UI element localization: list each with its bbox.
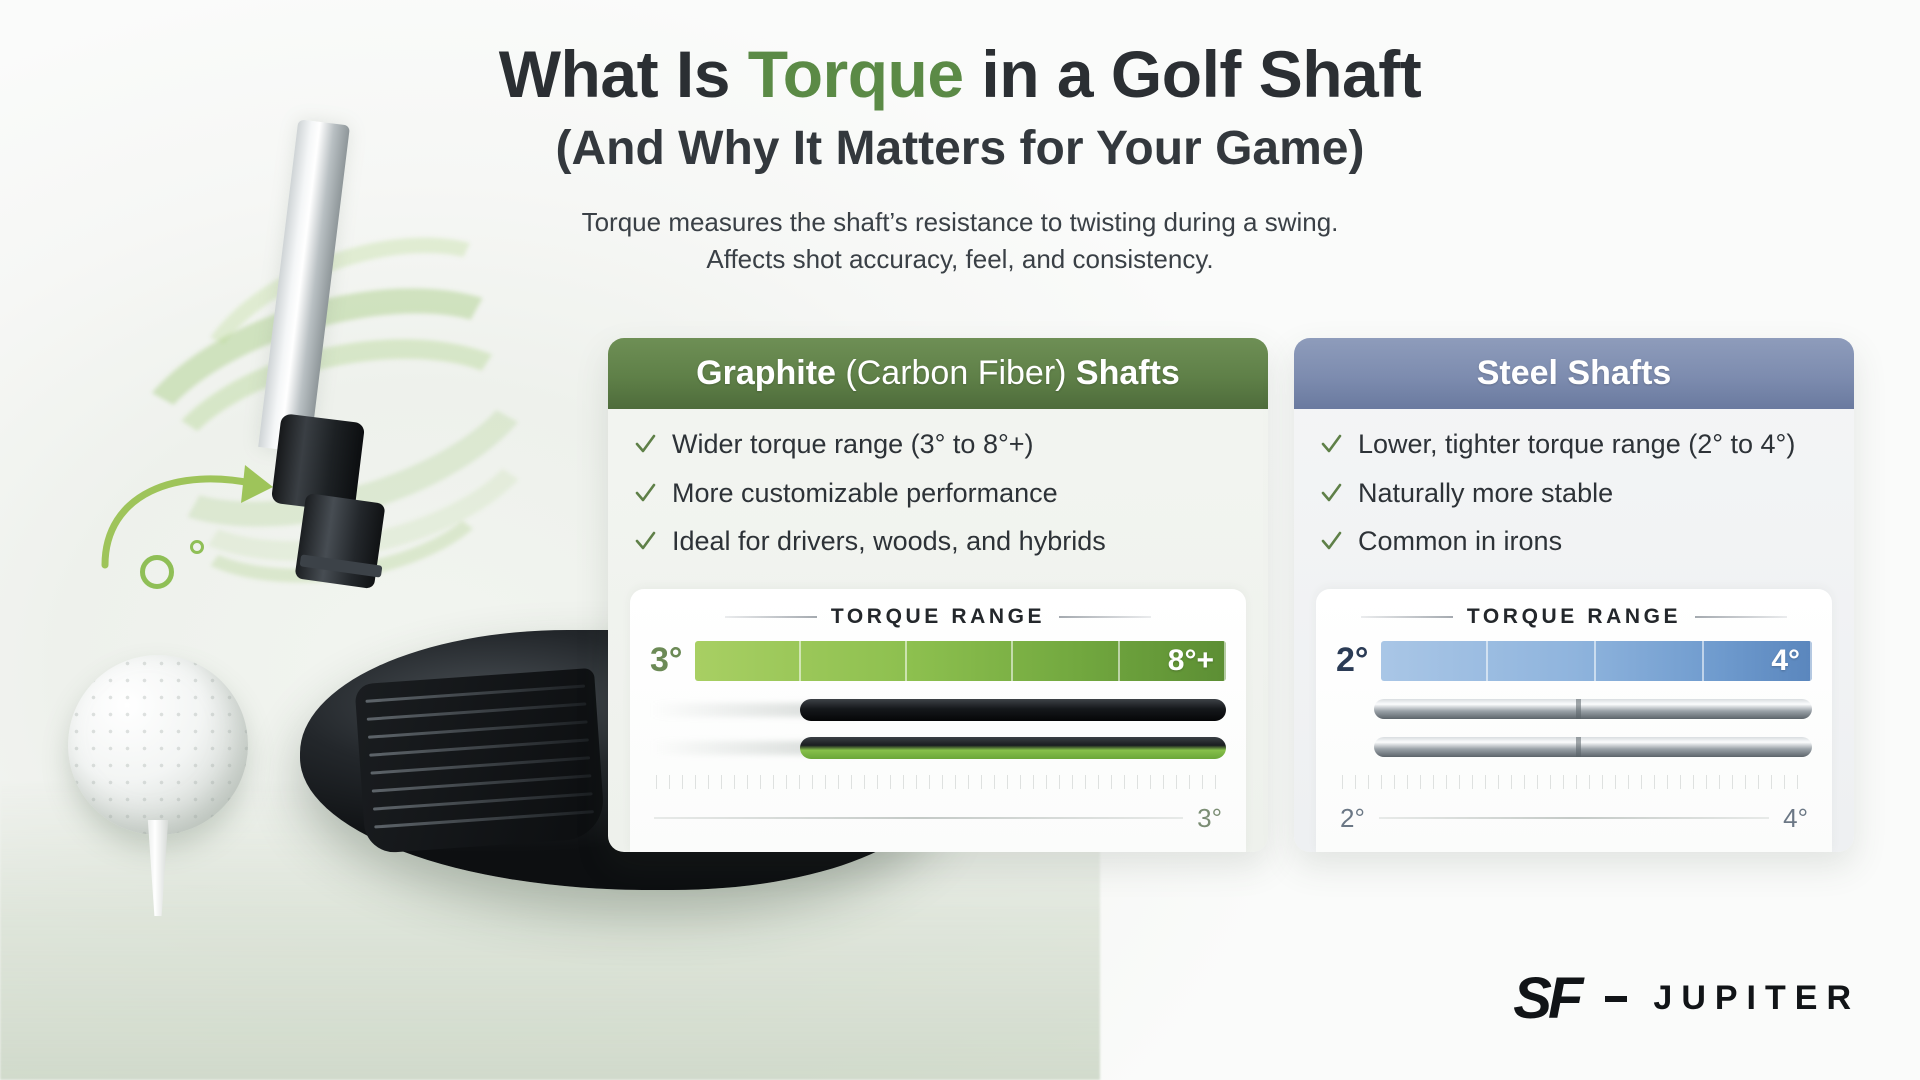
rule-left bbox=[1361, 616, 1453, 618]
card-graphite-bullets: Wider torque range (3° to 8°+) More cust… bbox=[608, 409, 1268, 579]
card-graphite-title: Graphite (Carbon Fiber) Shafts bbox=[634, 354, 1242, 393]
title-highlight: Torque bbox=[748, 37, 964, 111]
graphite-shaft-upper bbox=[800, 699, 1226, 721]
golf-ball bbox=[68, 655, 248, 835]
card-steel-bullets: Lower, tighter torque range (2° to 4°) N… bbox=[1294, 409, 1854, 579]
card-graphite-title-bold: Graphite bbox=[696, 354, 845, 392]
title-post: in a Golf Shaft bbox=[964, 37, 1422, 111]
foot-min-value: 2° bbox=[1340, 803, 1365, 834]
card-graphite-header: Graphite (Carbon Fiber) Shafts bbox=[608, 338, 1268, 409]
torque-range-header: TORQUE RANGE bbox=[1336, 605, 1812, 629]
measurement-ruler bbox=[656, 775, 1220, 789]
list-item: Lower, tighter torque range (2° to 4°) bbox=[1320, 427, 1824, 462]
list-item-label: Lower, tighter torque range (2° to 4°) bbox=[1358, 427, 1795, 462]
foot-max-value: 4° bbox=[1783, 803, 1808, 834]
golf-ball-dimples bbox=[68, 655, 248, 835]
graphite-shaft-lower bbox=[800, 737, 1226, 759]
list-item: More customizable performance bbox=[634, 476, 1238, 511]
shaft-row bbox=[1336, 737, 1812, 763]
logo-mark: SF bbox=[1513, 965, 1579, 1032]
steel-foot-scale: 2° 4° bbox=[1336, 803, 1812, 838]
torque-max-value: 8°+ bbox=[1168, 644, 1214, 678]
list-item: Common in irons bbox=[1320, 524, 1824, 559]
measurement-ruler bbox=[1342, 775, 1806, 789]
torque-max-value: 4° bbox=[1771, 644, 1800, 678]
rotation-arrow-icon bbox=[95, 455, 285, 585]
foot-line bbox=[1379, 817, 1769, 819]
comparison-cards: Graphite (Carbon Fiber) Shafts Wider tor… bbox=[608, 338, 1858, 852]
check-icon bbox=[634, 528, 656, 554]
list-item-label: Naturally more stable bbox=[1358, 476, 1613, 511]
rule-right bbox=[1695, 616, 1787, 618]
list-item-label: Ideal for drivers, woods, and hybrids bbox=[672, 524, 1106, 559]
club-face bbox=[354, 668, 605, 854]
torque-range-header: TORQUE RANGE bbox=[650, 605, 1226, 629]
shaft-row bbox=[650, 699, 1226, 725]
lede-paragraph: Torque measures the shaft’s resistance t… bbox=[0, 204, 1920, 279]
list-item-label: More customizable performance bbox=[672, 476, 1058, 511]
graphite-foot-scale: 3° bbox=[650, 803, 1226, 838]
card-steel-header: Steel Shafts bbox=[1294, 338, 1854, 409]
list-item-label: Common in irons bbox=[1358, 524, 1562, 559]
logo-divider bbox=[1605, 996, 1627, 1002]
check-icon bbox=[1320, 431, 1342, 457]
card-graphite-title-tail: Shafts bbox=[1076, 354, 1180, 392]
torque-min-value: 2° bbox=[1336, 641, 1369, 680]
list-item: Naturally more stable bbox=[1320, 476, 1824, 511]
steel-shaft-upper bbox=[1374, 699, 1812, 719]
torque-dot-small bbox=[190, 540, 204, 554]
card-graphite: Graphite (Carbon Fiber) Shafts Wider tor… bbox=[608, 338, 1268, 852]
torque-scale-graphite: 3° 8°+ bbox=[650, 641, 1226, 681]
page-subtitle: (And Why It Matters for Your Game) bbox=[0, 120, 1920, 178]
torque-dot-large bbox=[140, 555, 174, 589]
torque-range-label: TORQUE RANGE bbox=[1467, 605, 1681, 629]
check-icon bbox=[1320, 480, 1342, 506]
steel-shaft-lower bbox=[1374, 737, 1812, 757]
list-item: Wider torque range (3° to 8°+) bbox=[634, 427, 1238, 462]
shaft-row bbox=[1336, 699, 1812, 725]
check-icon bbox=[634, 480, 656, 506]
card-steel: Steel Shafts Lower, tighter torque range… bbox=[1294, 338, 1854, 852]
graphite-shaft-diagram bbox=[650, 699, 1226, 789]
steel-shaft-diagram bbox=[1336, 699, 1812, 789]
torque-min-value: 3° bbox=[650, 641, 683, 680]
card-steel-title: Steel Shafts bbox=[1320, 354, 1828, 393]
title-pre: What Is bbox=[499, 37, 748, 111]
brand-logo: SF JUPITER bbox=[1513, 965, 1860, 1032]
card-steel-torque-panel: TORQUE RANGE 2° 4° bbox=[1316, 589, 1832, 852]
foot-min-value: 3° bbox=[1197, 803, 1222, 834]
rule-left bbox=[725, 616, 817, 618]
torque-gradient-bar: 8°+ bbox=[695, 641, 1226, 681]
check-icon bbox=[634, 431, 656, 457]
header-block: What Is Torque in a Golf Shaft (And Why … bbox=[0, 38, 1920, 279]
torque-gradient-bar: 4° bbox=[1381, 641, 1812, 681]
foot-line bbox=[654, 817, 1183, 819]
infographic-canvas: What Is Torque in a Golf Shaft (And Why … bbox=[0, 0, 1920, 1080]
shaft-row bbox=[650, 737, 1226, 763]
torque-scale-steel: 2° 4° bbox=[1336, 641, 1812, 681]
check-icon bbox=[1320, 528, 1342, 554]
logo-wordmark: JUPITER bbox=[1653, 979, 1860, 1018]
list-item: Ideal for drivers, woods, and hybrids bbox=[634, 524, 1238, 559]
card-graphite-torque-panel: TORQUE RANGE 3° 8°+ bbox=[630, 589, 1246, 852]
rule-right bbox=[1059, 616, 1151, 618]
page-title: What Is Torque in a Golf Shaft bbox=[0, 38, 1920, 112]
lede-line-1: Torque measures the shaft’s resistance t… bbox=[0, 204, 1920, 242]
card-graphite-title-light: (Carbon Fiber) bbox=[845, 354, 1076, 392]
torque-range-label: TORQUE RANGE bbox=[831, 605, 1045, 629]
list-item-label: Wider torque range (3° to 8°+) bbox=[672, 427, 1034, 462]
lede-line-2: Affects shot accuracy, feel, and consist… bbox=[0, 241, 1920, 279]
